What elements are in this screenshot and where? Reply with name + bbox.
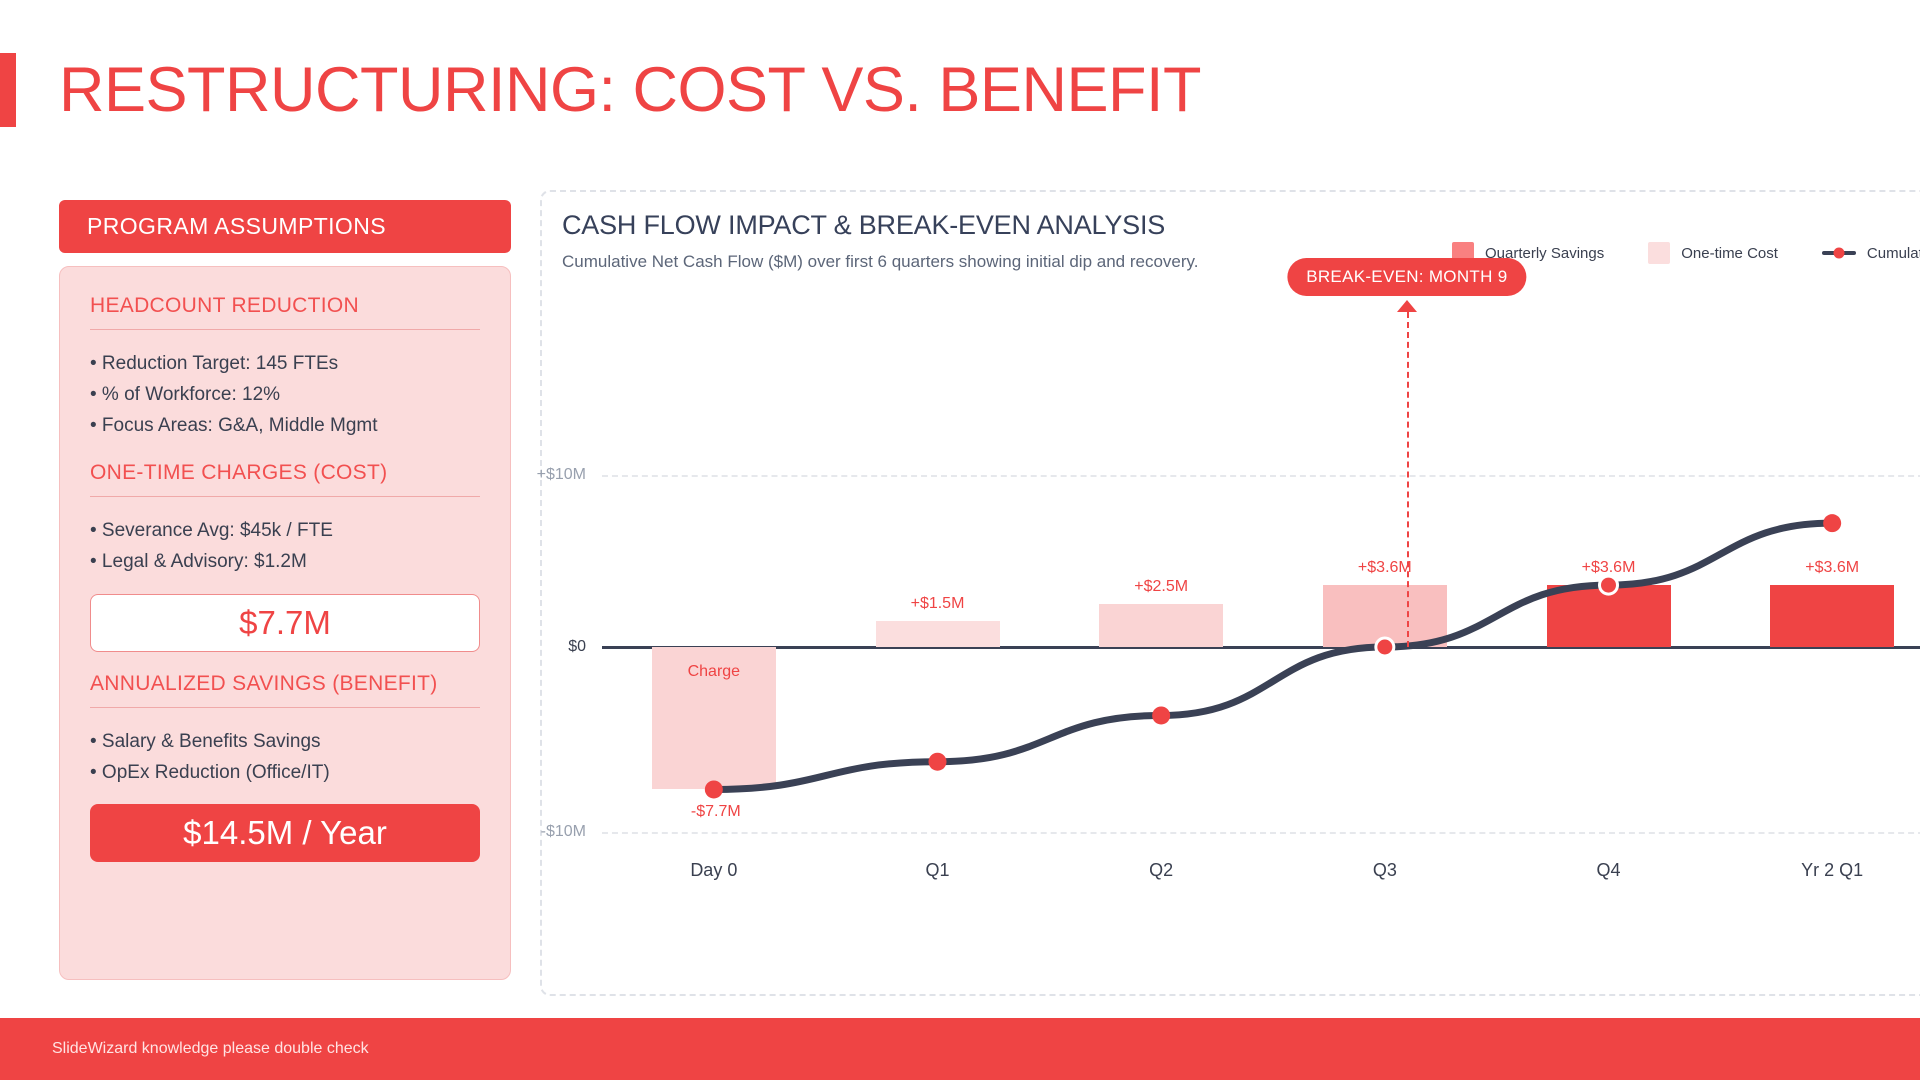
x-axis-tick-label: Day 0 — [690, 860, 737, 881]
chart-plot-area: +$10M$0-$10MCharge+$1.5M+$2.5M+$3.6M+$3.… — [542, 192, 1920, 994]
bullet-item: • % of Workforce: 12% — [90, 380, 480, 411]
x-axis-tick-label: Q1 — [925, 860, 949, 881]
cumulative-start-value-label: -$7.7M — [691, 803, 741, 821]
bullet-item: • Salary & Benefits Savings — [90, 727, 480, 758]
chart-bar[interactable] — [1099, 604, 1223, 647]
section-title: ONE-TIME CHARGES (COST) — [90, 461, 480, 496]
section-annualized-savings: ANNUALIZED SAVINGS (BENEFIT) • Salary & … — [90, 672, 480, 863]
break-even-arrow-icon — [1397, 300, 1417, 312]
footer-disclaimer: SlideWizard knowledge please double chec… — [52, 1040, 369, 1058]
footer-bar: SlideWizard knowledge please double chec… — [0, 1018, 1920, 1080]
chart-panel: CASH FLOW IMPACT & BREAK-EVEN ANALYSIS C… — [540, 190, 1920, 996]
kpi-one-time-cost: $7.7M — [90, 594, 480, 652]
section-divider — [90, 496, 480, 497]
cumulative-line-series — [542, 192, 1920, 998]
slide-root: RESTRUCTURING: COST VS. BENEFIT PROGRAM … — [0, 0, 1920, 1080]
chart-bar[interactable] — [1323, 585, 1447, 647]
x-axis-tick-label: Yr 2 Q1 — [1801, 860, 1863, 881]
chart-bar[interactable] — [876, 621, 1000, 647]
cumulative-line-point[interactable] — [1823, 514, 1841, 532]
chart-bar-value-label: +$1.5M — [911, 595, 965, 613]
section-title: ANNUALIZED SAVINGS (BENEFIT) — [90, 672, 480, 707]
x-axis-tick-label: Q4 — [1596, 860, 1620, 881]
chart-bar[interactable] — [1770, 585, 1894, 647]
chart-bar-value-label: Charge — [688, 663, 740, 681]
chart-gridline — [602, 832, 1920, 834]
cumulative-line-point[interactable] — [929, 753, 947, 771]
section-divider — [90, 707, 480, 708]
y-axis-tick-label: $0 — [568, 638, 586, 656]
bullet-item: • Legal & Advisory: $1.2M — [90, 547, 480, 578]
chart-bar[interactable] — [1547, 585, 1671, 647]
section-divider — [90, 329, 480, 330]
spacer — [90, 652, 480, 672]
section-title: HEADCOUNT REDUCTION — [90, 294, 480, 329]
chart-bar-value-label: +$3.6M — [1358, 559, 1412, 577]
y-axis-tick-label: +$10M — [537, 466, 586, 484]
program-assumptions-panel: PROGRAM ASSUMPTIONS HEADCOUNT REDUCTION … — [59, 200, 511, 980]
break-even-badge[interactable]: BREAK-EVEN: MONTH 9 — [1287, 258, 1526, 296]
sidebar-header: PROGRAM ASSUMPTIONS — [59, 200, 511, 253]
x-axis-tick-label: Q3 — [1373, 860, 1397, 881]
page-title: RESTRUCTURING: COST VS. BENEFIT — [0, 52, 1201, 128]
y-axis-tick-label: -$10M — [541, 823, 586, 841]
kpi-annualized-savings: $14.5M / Year — [90, 804, 480, 862]
cumulative-line-point[interactable] — [1152, 706, 1170, 724]
chart-gridline — [602, 475, 1920, 477]
bullet-item: • Severance Avg: $45k / FTE — [90, 516, 480, 547]
break-even-dashed-line — [1407, 312, 1409, 647]
sidebar-body: HEADCOUNT REDUCTION • Reduction Target: … — [59, 266, 511, 980]
x-axis-tick-label: Q2 — [1149, 860, 1173, 881]
chart-zero-baseline — [602, 646, 1920, 649]
chart-bar-value-label: +$3.6M — [1582, 559, 1636, 577]
chart-bar-value-label: +$2.5M — [1134, 578, 1188, 596]
bullet-item: • Reduction Target: 145 FTEs — [90, 349, 480, 380]
bullet-item: • OpEx Reduction (Office/IT) — [90, 758, 480, 789]
bullet-item: • Focus Areas: G&A, Middle Mgmt — [90, 411, 480, 442]
sidebar-header-label: PROGRAM ASSUMPTIONS — [87, 213, 386, 240]
title-label: RESTRUCTURING: COST VS. BENEFIT — [59, 59, 1201, 122]
title-accent-bar — [0, 53, 16, 127]
chart-bar-value-label: +$3.6M — [1805, 559, 1859, 577]
section-one-time-charges: ONE-TIME CHARGES (COST) • Severance Avg:… — [90, 461, 480, 652]
spacer — [90, 441, 480, 461]
section-headcount-reduction: HEADCOUNT REDUCTION • Reduction Target: … — [90, 294, 480, 441]
